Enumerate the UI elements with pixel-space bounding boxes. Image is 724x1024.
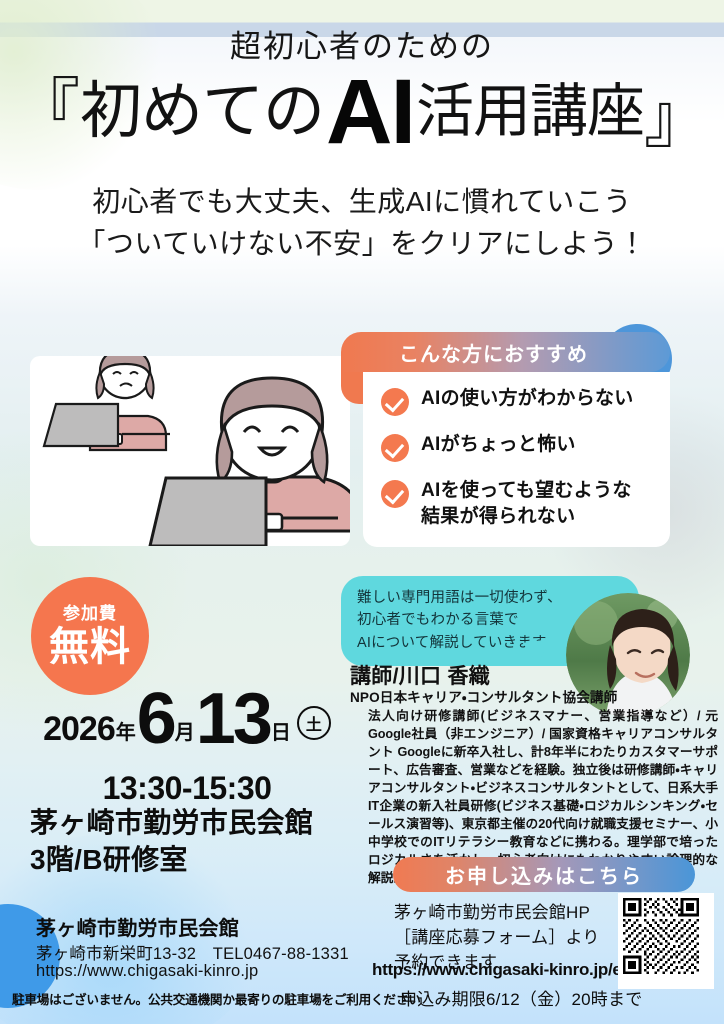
- apply-heading-text: お申し込みはこちら: [445, 860, 643, 889]
- apply-banner[interactable]: お申し込みはこちら: [393, 857, 695, 892]
- title-part2: 活用講座: [416, 83, 644, 141]
- event-venue: 茅ヶ崎市勤労市民会館 3階/B研修室: [30, 805, 360, 879]
- illustration-card: [30, 356, 350, 546]
- event-month-unit: 月: [175, 716, 195, 745]
- list-item: AIがちょっと怖い: [381, 432, 670, 462]
- recommend-header: こんな方におすすめ: [341, 332, 670, 372]
- apply-line-2: ［講座応募フォーム］より: [394, 925, 614, 950]
- quote-open: 『: [14, 76, 80, 142]
- people-laptops-illustration: [30, 356, 350, 546]
- subtitle-line-2: 「ついていけない不安」をクリアにしよう！: [0, 223, 724, 265]
- check-icon: [381, 388, 409, 416]
- contact-address: 茅ヶ崎市新栄町13-32 TEL0467-88-1331: [36, 940, 349, 964]
- event-year: 2026: [43, 710, 115, 749]
- list-item-label: AIの使い方がわからない: [421, 386, 634, 412]
- event-date: 2026 年 6 月 13 日 土: [22, 690, 352, 749]
- recommend-panel: こんな方におすすめ AIの使い方がわからない AIがちょっと怖い AIを使っても…: [341, 332, 670, 547]
- quote-close: 』: [644, 85, 710, 151]
- event-time: 13:30-15:30: [22, 770, 352, 807]
- flyer-page: 超初心者のための 『 初めての AI 活用講座 』 初心者でも大丈夫、生成AIに…: [0, 0, 724, 1024]
- list-item-label: AIを使っても望むような 結果が得られない: [421, 478, 632, 529]
- contact-url[interactable]: https://www.chigasaki-kinro.jp: [36, 962, 258, 981]
- fee-badge: 参加費 無料: [31, 577, 149, 695]
- event-month: 6: [137, 690, 174, 749]
- check-icon: [381, 480, 409, 508]
- page-title: 『 初めての AI 活用講座 』: [0, 70, 724, 155]
- event-day-unit: 日: [271, 716, 291, 745]
- speech-bubble-tail: [522, 639, 551, 666]
- application-deadline: 申込み期限6/12（金）20時まで: [400, 985, 642, 1010]
- venue-line-1: 茅ヶ崎市勤労市民会館: [30, 805, 360, 842]
- list-item: AIの使い方がわからない: [381, 386, 670, 416]
- qr-code-image: [623, 898, 699, 974]
- list-item-label: AIがちょっと怖い: [421, 432, 576, 458]
- event-day: 13: [196, 690, 270, 749]
- subtitle: 初心者でも大丈夫、生成AIに慣れていこう 「ついていけない不安」をクリアにしよう…: [0, 181, 724, 265]
- title-ai: AI: [324, 70, 416, 155]
- fee-label: 参加費: [63, 605, 117, 622]
- recommend-list: AIの使い方がわからない AIがちょっと怖い AIを使っても望むような 結果が得…: [363, 372, 670, 547]
- title-part1: 初めての: [80, 81, 324, 143]
- subtitle-line-1: 初心者でも大丈夫、生成AIに慣れていこう: [0, 181, 724, 223]
- parking-note: 駐車場はございません。公共交通機関か最寄りの駐車場をご利用ください: [12, 989, 421, 1008]
- bubble-line-1: 難しい専門用語は一切使わず、: [357, 587, 625, 609]
- list-item: AIを使っても望むような 結果が得られない: [381, 478, 670, 529]
- instructor-organization: NPO日本キャリア・コンサルタント協会講師: [350, 686, 617, 706]
- check-icon: [381, 434, 409, 462]
- qr-code[interactable]: [618, 893, 714, 989]
- fee-value: 無料: [49, 626, 131, 668]
- apply-line-1: 茅ヶ崎市勤労市民会館HP: [394, 900, 614, 925]
- event-dayofweek: 土: [297, 706, 331, 740]
- event-year-unit: 年: [116, 716, 136, 745]
- kicker-text: 超初心者のための: [0, 30, 724, 64]
- contact-venue-name: 茅ヶ崎市勤労市民会館: [36, 912, 239, 941]
- header: 超初心者のための 『 初めての AI 活用講座 』 初心者でも大丈夫、生成AIに…: [0, 30, 724, 265]
- venue-line-2: 3階/B研修室: [30, 842, 360, 879]
- recommend-heading-text: こんな方におすすめ: [399, 338, 588, 367]
